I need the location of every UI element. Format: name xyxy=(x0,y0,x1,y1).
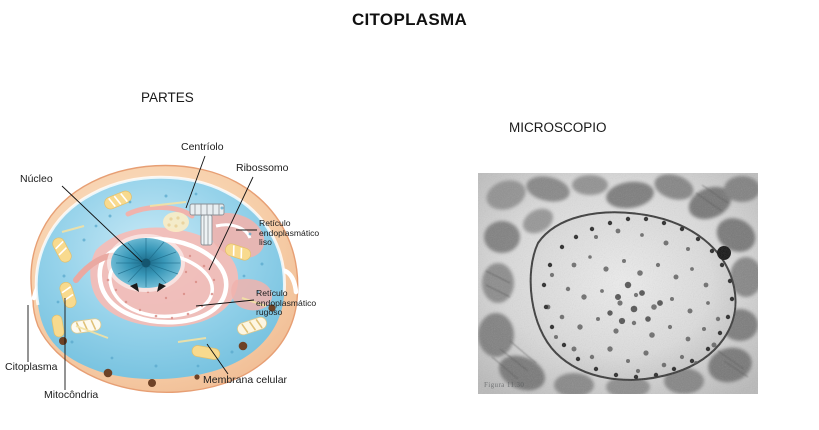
diagram-label-reticulo-endoplasmatico-liso: Retículo endoplasmático liso xyxy=(259,219,319,248)
nucleus-shape xyxy=(107,234,185,292)
diagram-label-mitocondria: Mitocôndria xyxy=(44,390,98,402)
cell-diagram-panel: Centríolo Ribossomo Núcleo Retículo endo… xyxy=(0,130,340,405)
diagram-label-centriolo: Centríolo xyxy=(181,142,224,154)
micrograph-caption: Figura 11.30 xyxy=(484,381,524,389)
section-heading-partes: PARTES xyxy=(141,90,194,105)
golgi-apparatus-shape xyxy=(163,212,189,232)
micrograph-panel: Figura 11.30 xyxy=(478,173,758,394)
diagram-label-nucleo: Núcleo xyxy=(20,174,53,186)
section-heading-microscopio: MICROSCOPIO xyxy=(509,120,607,135)
diagram-label-membrana-celular: Membrana celular xyxy=(203,375,287,387)
page-title: CITOPLASMA xyxy=(0,10,819,30)
diagram-label-citoplasma: Citoplasma xyxy=(5,362,58,374)
electron-micrograph-image xyxy=(478,173,758,394)
diagram-label-reticulo-endoplasmatico-rugoso: Retículo endoplasmático rugoso xyxy=(256,289,316,318)
diagram-label-ribossomo: Ribossomo xyxy=(236,163,289,175)
